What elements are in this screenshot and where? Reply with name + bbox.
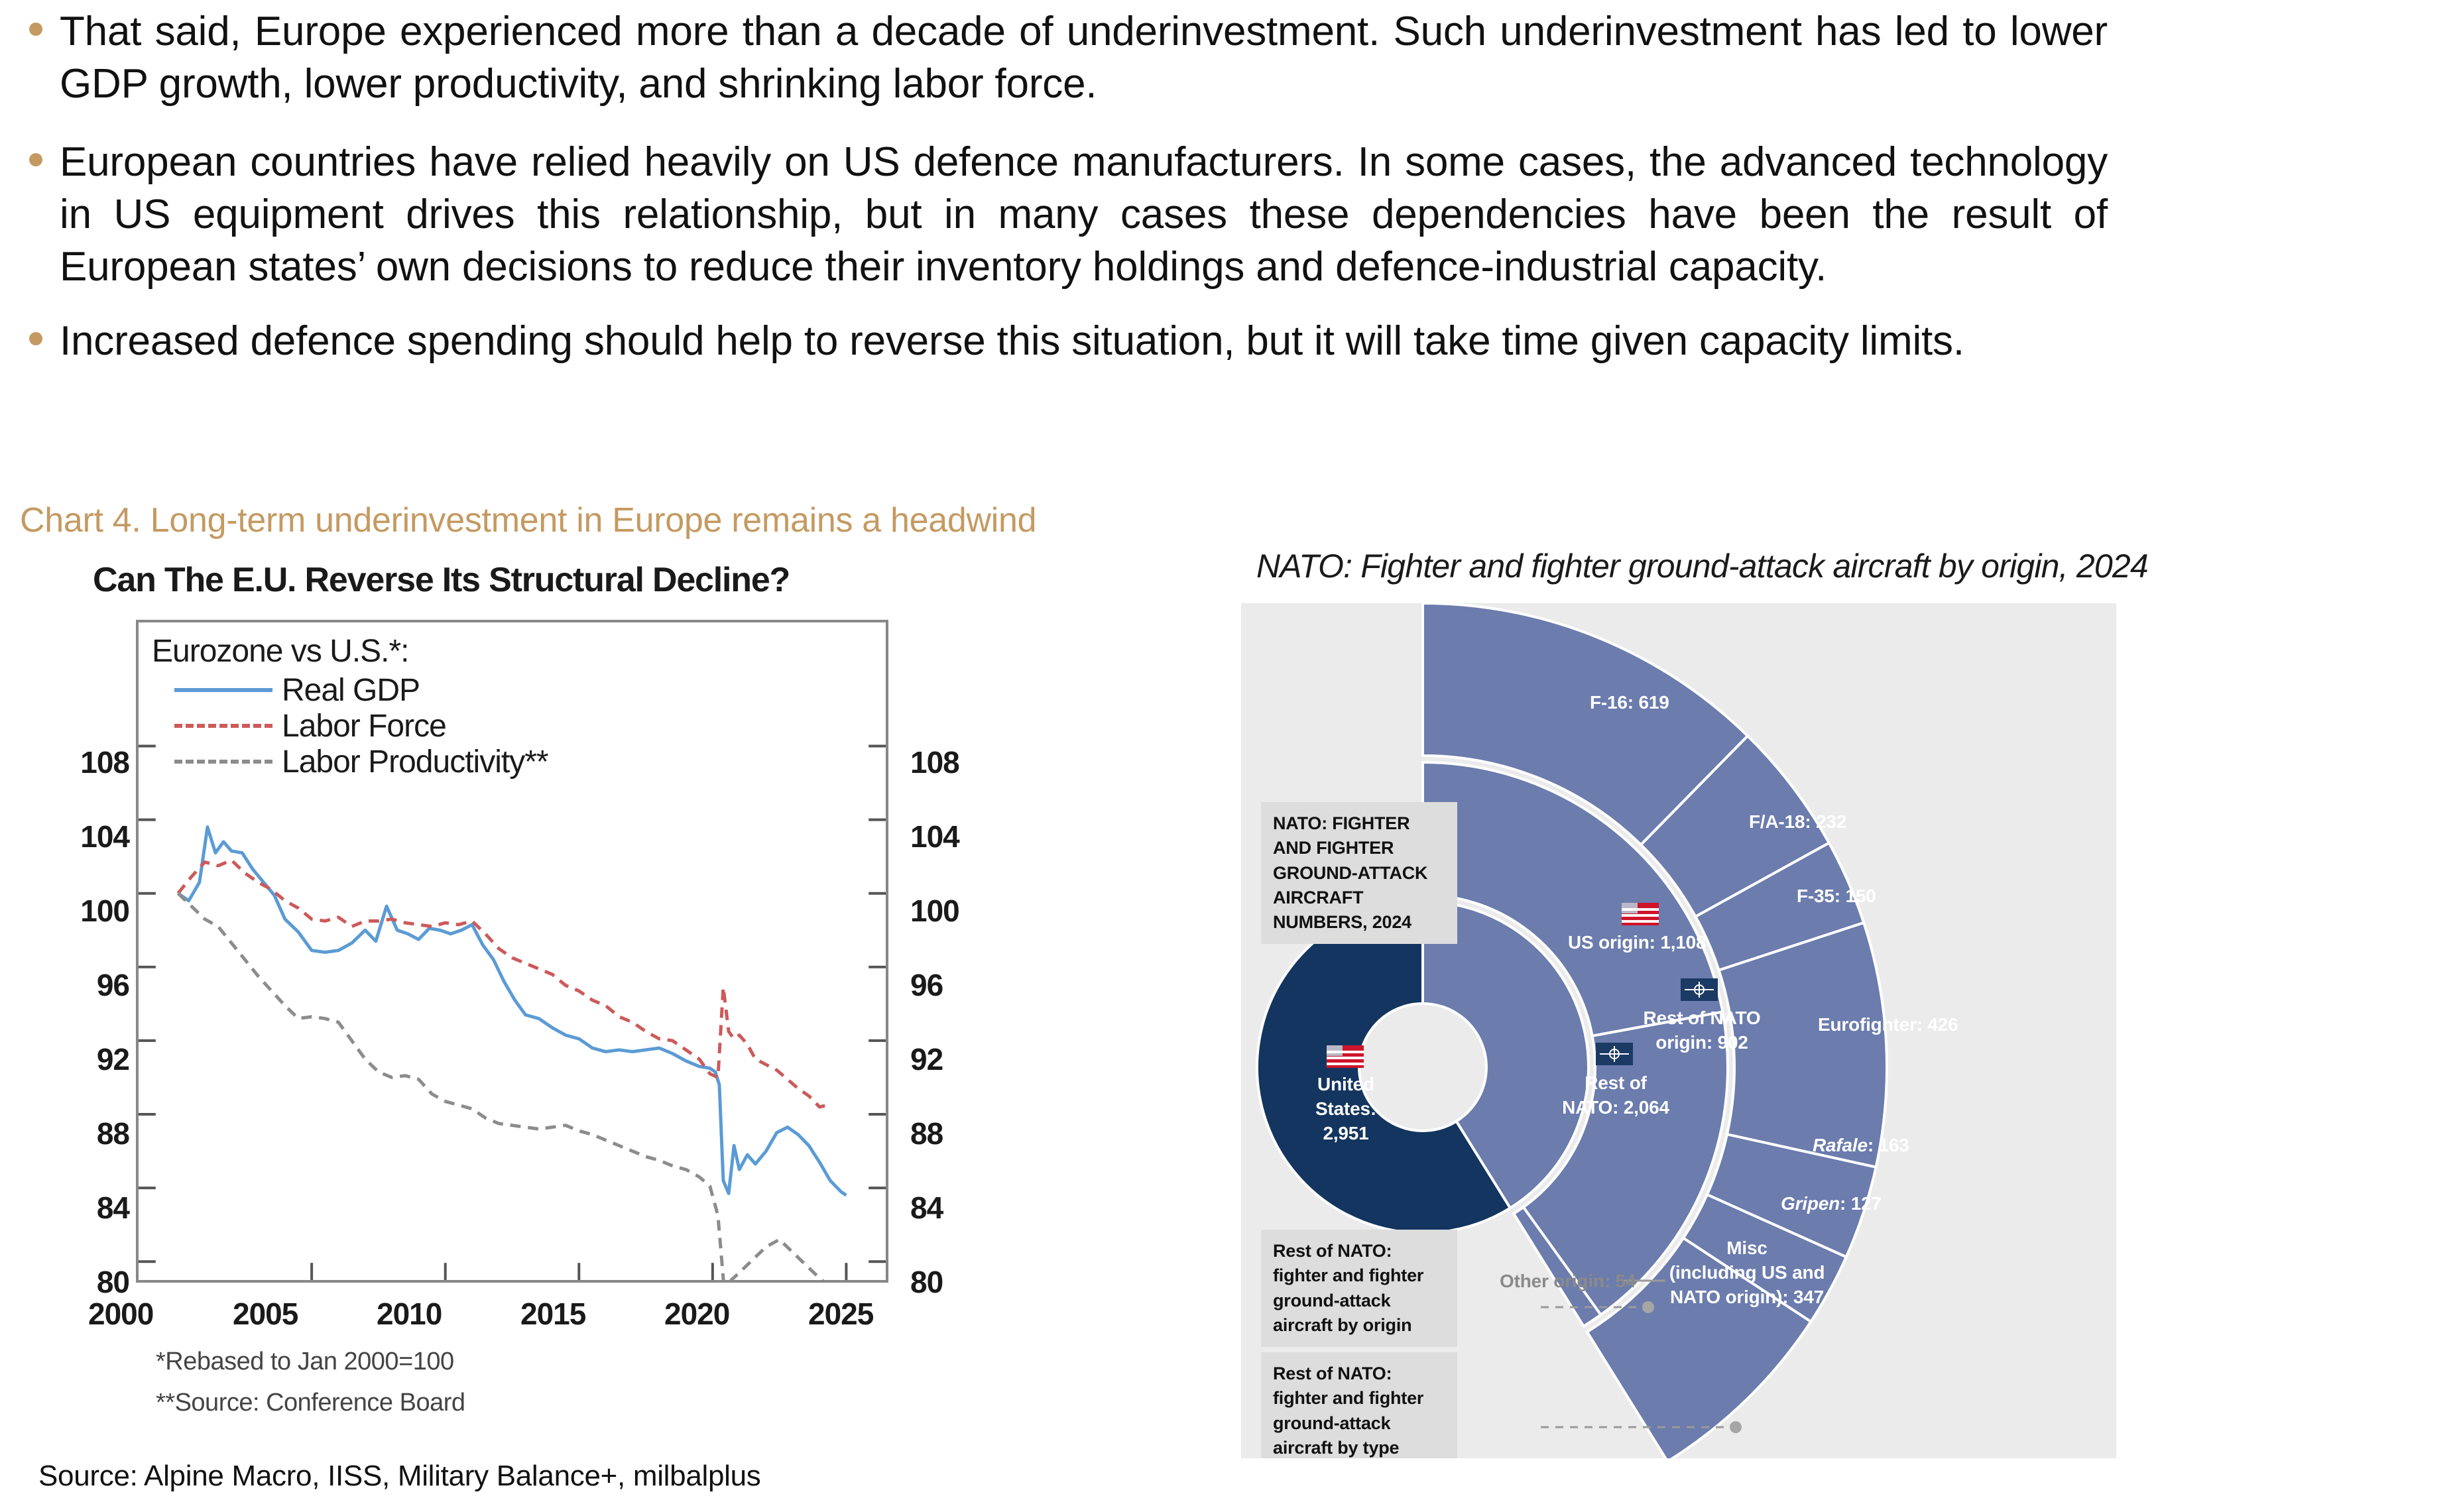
rafale-value: : 163 — [1868, 1135, 1909, 1155]
legend-swatch-labor-force — [174, 724, 272, 728]
outer-slice-label-eurofighter: Eurofighter: 426 — [1818, 1013, 1958, 1037]
y-tick-label-right-84: 84 — [910, 1190, 943, 1226]
legend-header: Eurozone vs U.S.*: — [152, 633, 548, 669]
footnote-source: **Source: Conference Board — [156, 1389, 465, 1417]
outer-slice-label-rafale: Rafale: 163 — [1813, 1134, 1909, 1158]
mid-slice-label-us-origin: US origin: 1,108 — [1568, 931, 1706, 955]
nato-flag-icon — [1596, 1043, 1633, 1065]
inner-slice-label-us: United States: 2,951 — [1293, 1073, 1399, 1146]
y-tick-label-left-108: 108 — [30, 744, 129, 780]
line-chart-legend: Eurozone vs U.S.*: Real GDP Labor Force … — [152, 633, 548, 780]
misc-line1: Misc — [1726, 1238, 1767, 1258]
y-tick-label-right-108: 108 — [910, 744, 959, 780]
bullet-dot-icon — [29, 23, 42, 36]
mid-slice-label-rest-of-nato-origin: Rest of NATO origin: 902 — [1636, 1006, 1768, 1055]
y-tick-label-left-96: 96 — [30, 967, 129, 1003]
right-chart-title: NATO: Fighter and fighter ground-attack … — [1256, 547, 2148, 585]
x-tick-label-2005: 2005 — [233, 1296, 298, 1332]
misc-line2: (including US and — [1669, 1262, 1825, 1283]
y-tick-label-left-100: 100 — [30, 893, 129, 929]
bullet-text: Increased defence spending should help t… — [60, 315, 2459, 367]
y-tick-label-right-92: 92 — [910, 1041, 943, 1077]
y-tick-label-left-104: 104 — [30, 819, 129, 854]
legend-row-real-gdp: Real GDP — [174, 672, 548, 708]
legend-label-real-gdp: Real GDP — [282, 672, 420, 709]
sunburst-title-box: NATO: FIGHTER AND FIGHTER GROUND-ATTACK … — [1261, 802, 1457, 944]
gripen-name: Gripen — [1781, 1193, 1840, 1214]
bullet-text: That said, Europe experienced more than … — [60, 5, 2459, 111]
us-flag-icon-mid — [1622, 903, 1659, 925]
sunburst-panel: NATO: FIGHTER AND FIGHTER GROUND-ATTACK … — [1241, 603, 2116, 1458]
nato-flag-icon-mid — [1681, 978, 1718, 1001]
bullet-dot-icon — [29, 153, 42, 166]
x-tick-label-2000: 2000 — [88, 1296, 153, 1332]
source-line: Source: Alpine Macro, IISS, Military Bal… — [38, 1460, 761, 1493]
bullet-list: That said, Europe experienced more than … — [0, 0, 2459, 316]
axis-ticks — [139, 746, 886, 1280]
bullet-item: That said, Europe experienced more than … — [0, 5, 2459, 111]
inner-slice-label-rest-of-nato: Rest of NATO: 2,064 — [1553, 1071, 1679, 1120]
y-tick-label-right-104: 104 — [910, 819, 959, 854]
mid-slice-label-other-origin: Other origin: 54 — [1500, 1269, 1636, 1294]
outer-slice-label-f35: F-35: 150 — [1797, 884, 1876, 909]
outer-slice-label-misc: Misc (including US and NATO origin): 347 — [1657, 1236, 1836, 1310]
y-tick-label-left-84: 84 — [30, 1190, 129, 1226]
mid-slice-nato-text: Rest of NATO — [1643, 1008, 1760, 1028]
legend-swatch-labor-productivity — [174, 760, 272, 764]
y-tick-label-right-96: 96 — [910, 967, 943, 1003]
legend-label-labor-force: Labor Force — [282, 708, 446, 744]
outer-slice-label-f16: F-16: 619 — [1590, 691, 1669, 715]
line-chart-plot-area: Eurozone vs U.S.*: Real GDP Labor Force … — [136, 620, 888, 1283]
leader-dot-type — [1730, 1421, 1742, 1433]
misc-line3: NATO origin): 347 — [1670, 1287, 1824, 1307]
y-tick-label-left-92: 92 — [30, 1041, 129, 1077]
inner-slice-label-us-value: 2,951 — [1323, 1123, 1368, 1143]
left-chart-title: Can The E.U. Reverse Its Structural Decl… — [93, 560, 790, 600]
legend-row-labor-force: Labor Force — [174, 708, 548, 744]
outer-slice-label-gripen: Gripen: 127 — [1781, 1192, 1882, 1216]
x-tick-label-2025: 2025 — [808, 1296, 873, 1332]
bullet-text: European countries have relied heavily o… — [60, 136, 2459, 294]
leader-dot-origin — [1642, 1301, 1654, 1313]
sunburst-origin-key-box: Rest of NATO: fighter and fighter ground… — [1261, 1230, 1457, 1347]
bullet-item: European countries have relied heavily o… — [0, 136, 2459, 294]
outer-slice-label-fa18: F/A-18: 232 — [1749, 810, 1846, 835]
y-tick-label-left-88: 88 — [30, 1116, 129, 1151]
legend-row-labor-productivity: Labor Productivity** — [174, 744, 548, 780]
legend-swatch-real-gdp — [174, 688, 272, 692]
sunburst-type-key-box: Rest of NATO: fighter and fighter ground… — [1261, 1352, 1457, 1458]
bullet-dot-icon — [29, 332, 42, 345]
x-tick-label-2010: 2010 — [377, 1296, 442, 1332]
series-path-labor-productivity — [178, 894, 847, 1280]
series-paths — [178, 827, 847, 1280]
y-tick-label-left-80: 80 — [30, 1264, 129, 1300]
gripen-value: : 127 — [1840, 1193, 1882, 1214]
x-tick-label-2015: 2015 — [520, 1296, 585, 1332]
y-tick-label-right-88: 88 — [910, 1116, 943, 1151]
inner-slice-label-nato-value: NATO: 2,064 — [1562, 1097, 1669, 1118]
footnote-rebased: *Rebased to Jan 2000=100 — [156, 1348, 454, 1376]
bullet-item: Increased defence spending should help t… — [0, 315, 2459, 367]
inner-slice-label-us-text: United States: — [1315, 1074, 1376, 1119]
series-path-real-gdp — [178, 827, 847, 1196]
x-tick-label-2020: 2020 — [664, 1296, 729, 1332]
legend-label-labor-productivity: Labor Productivity** — [282, 744, 548, 780]
chart-caption: Chart 4. Long-term underinvestment in Eu… — [20, 500, 1036, 540]
left-chart-panel: Can The E.U. Reverse Its Structural Decl… — [36, 560, 951, 1435]
y-tick-label-right-80: 80 — [910, 1264, 943, 1300]
mid-slice-nato-value: origin: 902 — [1655, 1032, 1748, 1053]
rafale-name: Rafale — [1813, 1135, 1868, 1155]
inner-slice-label-nato-text: Rest of — [1585, 1073, 1647, 1093]
us-flag-icon — [1327, 1045, 1364, 1068]
y-tick-label-right-100: 100 — [910, 893, 959, 929]
